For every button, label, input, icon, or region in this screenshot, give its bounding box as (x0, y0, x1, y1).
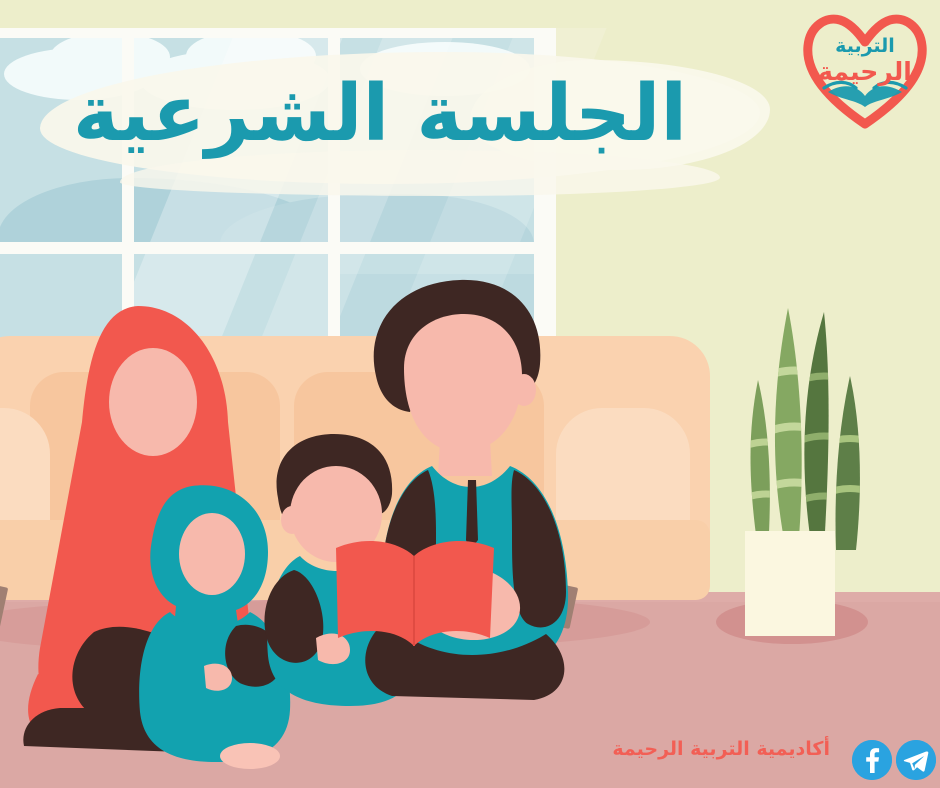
window-mullion (0, 28, 556, 38)
footer-brand: أكاديمية التربية الرحيمة (612, 738, 830, 760)
mother-face (109, 348, 197, 456)
open-book (330, 520, 500, 660)
logo-line-1: التربية (835, 35, 895, 57)
poster-canvas: الجلسة الشرعية التربية الرحيمة (0, 0, 940, 788)
plant-leaf (751, 380, 770, 550)
father-face (404, 314, 522, 452)
snake-plant (700, 250, 890, 550)
plant-pot (745, 531, 835, 636)
daughter-face (179, 513, 245, 595)
page-title: الجلسة الشرعية (0, 68, 760, 160)
telegram-icon[interactable] (896, 740, 936, 780)
academy-logo[interactable]: التربية الرحيمة (802, 8, 928, 130)
plant-leaf (804, 312, 828, 550)
logo-line-2: الرحيمة (818, 57, 912, 87)
daughter-foot (220, 743, 280, 769)
window-mullion (0, 242, 556, 254)
plant-leaf (836, 376, 860, 550)
facebook-icon[interactable] (852, 740, 892, 780)
